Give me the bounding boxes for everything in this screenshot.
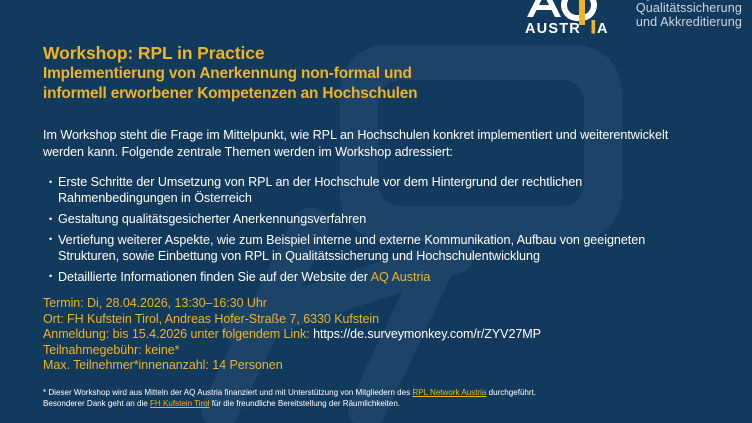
intro-paragraph: Im Workshop steht die Frage im Mittelpun… (43, 127, 703, 160)
svg-text:AUSTR: AUSTR (525, 21, 581, 35)
workshop-title: Workshop: RPL in Practice (43, 43, 265, 63)
svg-text:A: A (597, 21, 609, 35)
list-item: Vertiefung weiterer Aspekte, wie zum Bei… (49, 232, 704, 265)
aq-austria-logo: AUSTR A Agentur für Qualitätssicherung u… (525, 0, 742, 33)
event-date: Termin: Di, 28.04.2026, 13:30–16:30 Uhr (43, 296, 541, 312)
logo-tagline-line2: Qualitätssicherung (636, 2, 742, 15)
aq-logo-mark: AUSTR A (525, 0, 625, 33)
list-item: Gestaltung qualitätsgesicherter Anerkenn… (49, 211, 704, 227)
footnote-line2-text-before: Besonderer Dank geht an die (43, 399, 150, 408)
event-details: Termin: Di, 28.04.2026, 13:30–16:30 Uhr … (43, 296, 541, 374)
list-item: Detaillierte Informationen finden Sie au… (49, 269, 704, 285)
event-registration: Anmeldung: bis 15.4.2026 unter folgendem… (43, 327, 541, 343)
registration-url[interactable]: https://de.surveymonkey.com/r/ZYV27MP (313, 327, 541, 341)
slide-canvas: AUSTRIA AUSTR A Agentur für (0, 0, 752, 423)
rpl-network-austria-link[interactable]: RPL Network Austria (412, 388, 486, 397)
workshop-subtitle-line2: informell erworbener Kompetenzen an Hoch… (43, 84, 417, 104)
list-item-text: Detaillierte Informationen finden Sie au… (58, 270, 371, 284)
aq-austria-website-link[interactable]: AQ Austria (371, 270, 431, 284)
event-max-participants: Max. Teilnehmer*innenanzahl: 14 Personen (43, 358, 541, 374)
event-fee: Teilnahmegebühr: keine* (43, 343, 541, 359)
workshop-subtitle-line1: Implementierung von Anerkennung non-form… (43, 64, 417, 84)
footnote-line2: Besonderer Dank geht an die FH Kufstein … (43, 398, 663, 409)
footnote-line2-text-after: für die freundliche Bereitstellung der R… (209, 399, 400, 408)
footnote-line1-text-before: * Dieser Workshop wird aus Mitteln der A… (43, 388, 412, 397)
aq-logo-icon: AUSTR A (525, 0, 629, 35)
workshop-subtitle: Implementierung von Anerkennung non-form… (43, 64, 417, 103)
topic-bullet-list: Erste Schritte der Umsetzung von RPL an … (49, 174, 704, 290)
fh-kufstein-tirol-link[interactable]: FH Kufstein Tirol (150, 399, 209, 408)
logo-tagline: Agentur für Qualitätssicherung und Akkre… (636, 0, 742, 30)
footnote: * Dieser Workshop wird aus Mitteln der A… (43, 387, 663, 409)
event-location: Ort: FH Kufstein Tirol, Andreas Hofer-St… (43, 312, 541, 328)
registration-label: Anmeldung: bis 15.4.2026 unter folgendem… (43, 327, 313, 341)
logo-tagline-line3: und Akkreditierung (636, 16, 742, 29)
list-item: Erste Schritte der Umsetzung von RPL an … (49, 174, 704, 207)
footnote-line1-text-after: durchgeführt. (486, 388, 536, 397)
footnote-line1: * Dieser Workshop wird aus Mitteln der A… (43, 387, 663, 398)
